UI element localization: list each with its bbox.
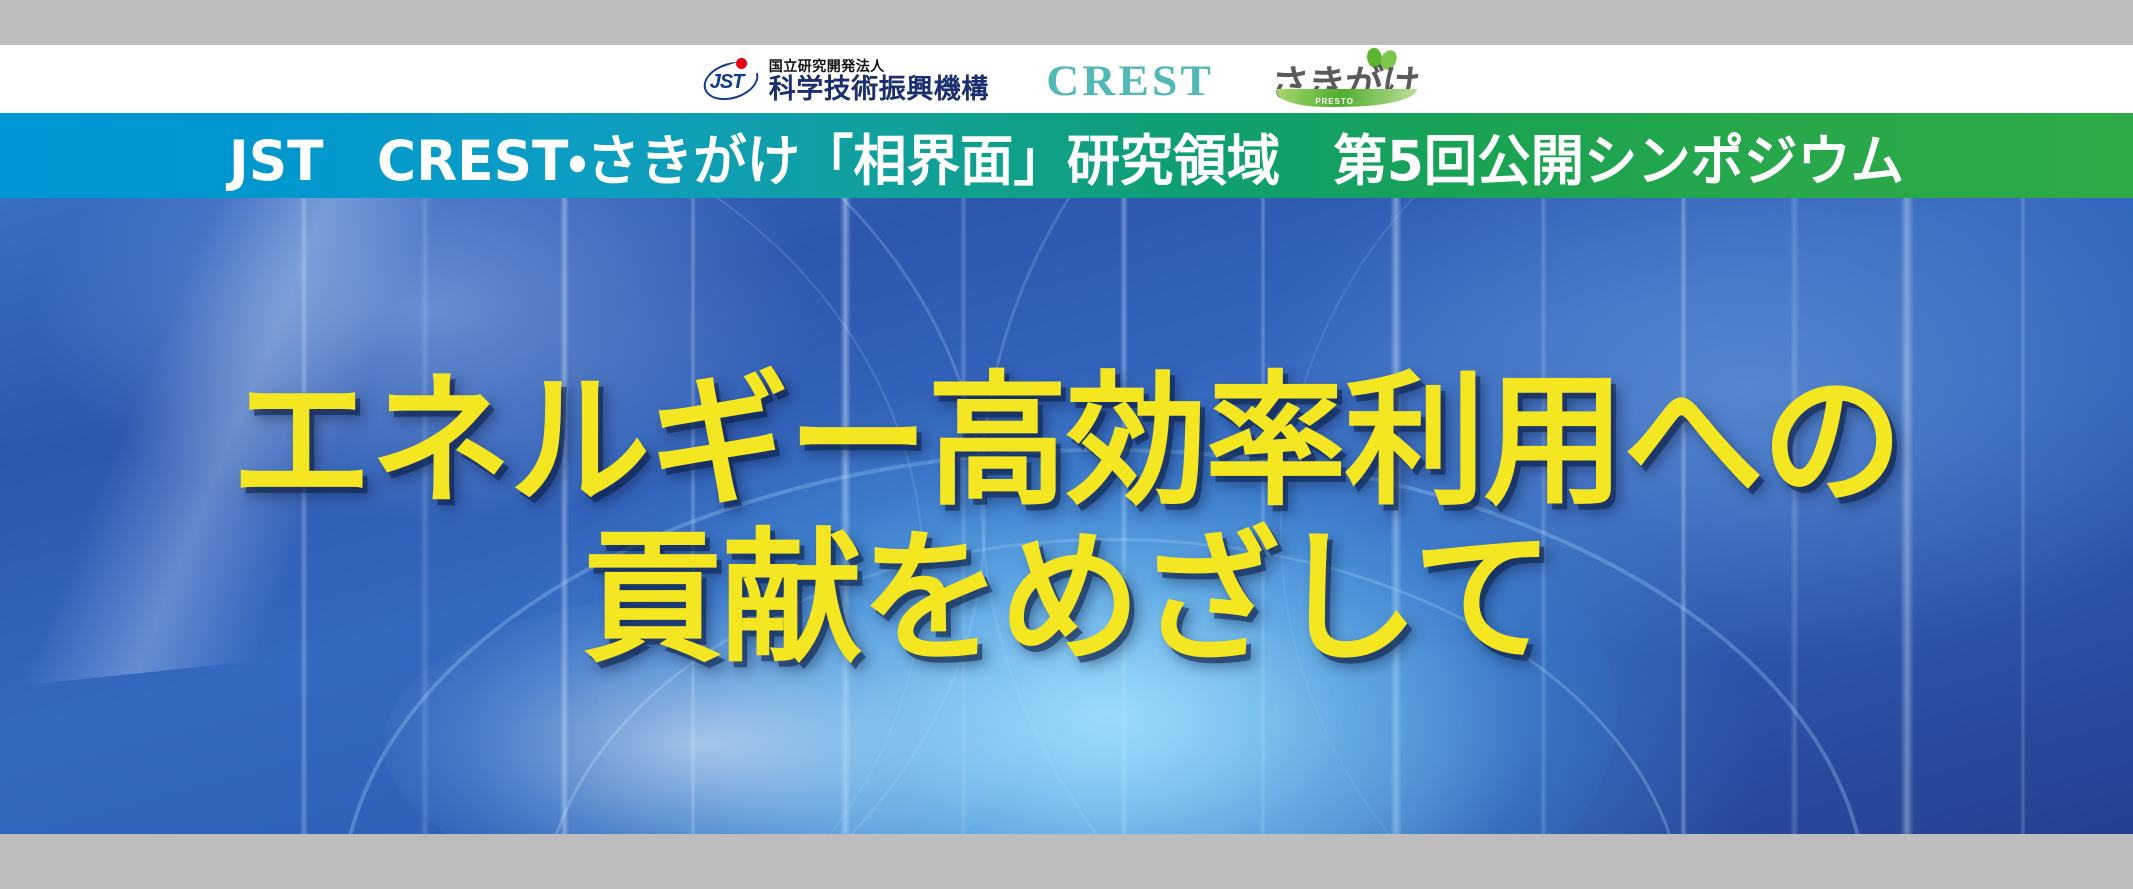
jst-org-name: 科学技術振興機構 [769, 76, 989, 103]
bottom-grey-strip [0, 834, 2133, 889]
top-grey-strip [0, 0, 2133, 45]
presto-logo: さきがけ PRESTO [1271, 51, 1431, 109]
symposium-title: JST CREST・さきがけ「相界面」研究領域 第5回公開シンポジウム [229, 116, 1904, 196]
logo-band: JST 国立研究開発法人 科学技術振興機構 CREST さきがけ PRESTO [0, 45, 2133, 113]
jst-mark-label: JST [710, 71, 744, 94]
poster-page: JST 国立研究開発法人 科学技術振興機構 CREST さきがけ PRESTO … [0, 0, 2133, 889]
jst-logo: JST 国立研究開発法人 科学技術振興機構 [702, 58, 989, 104]
presto-sub-wordmark: PRESTO [1315, 97, 1354, 106]
hero-banner: エネルギー高効率利用への 貢献をめざして [0, 198, 2133, 834]
hero-headline-line-2: 貢献をめざして [582, 522, 1552, 675]
jst-red-dot-icon [736, 58, 747, 69]
symposium-title-band: JST CREST・さきがけ「相界面」研究領域 第5回公開シンポジウム [0, 113, 2133, 198]
jst-wordmark: 国立研究開発法人 科学技術振興機構 [769, 59, 989, 103]
crest-logo: CREST [1046, 57, 1214, 106]
hero-headline-line-1: エネルギー高効率利用への [232, 365, 1902, 518]
jst-org-prefix: 国立研究開発法人 [769, 59, 989, 73]
jst-orbit-icon: JST [702, 58, 760, 104]
hero-headline: エネルギー高効率利用への 貢献をめざして [0, 198, 2133, 834]
